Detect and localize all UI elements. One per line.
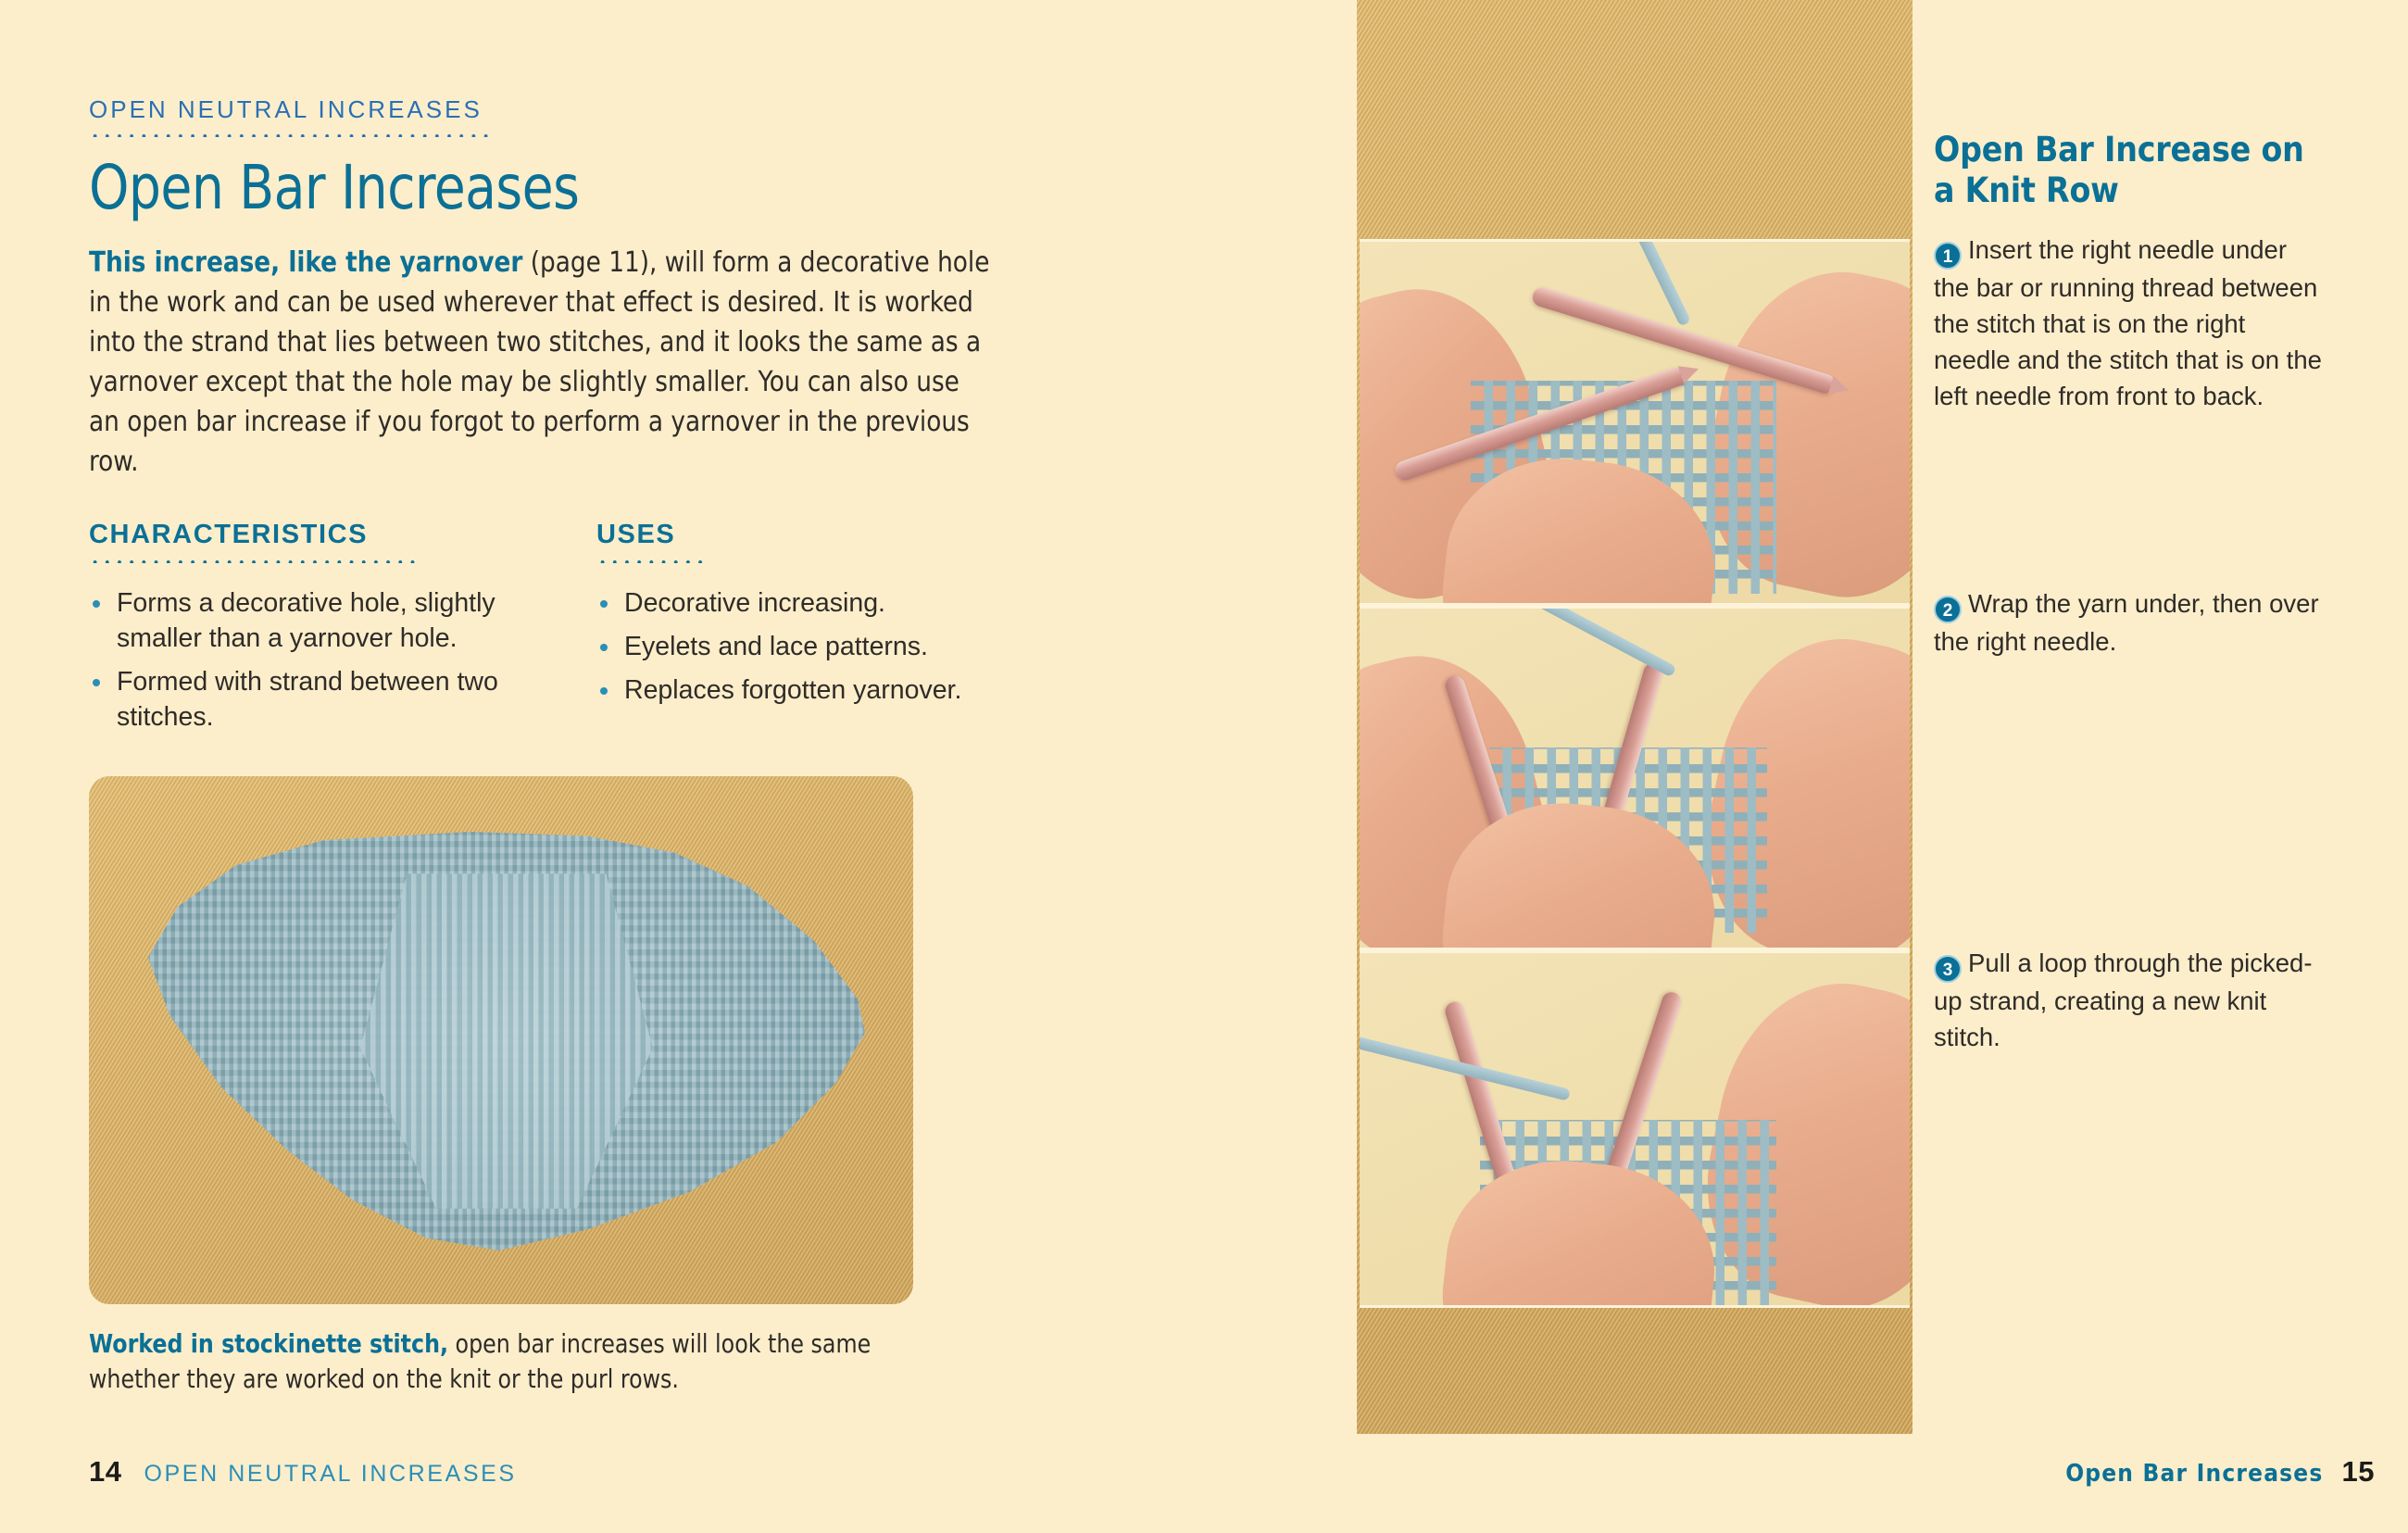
characteristics-heading: CHARACTERISTICS [89,521,596,550]
step-3: 3Pull a loop through the picked-up stran… [1934,945,2323,1055]
step-number-badge-3: 3 [1934,955,1962,983]
uses-heading: USES [596,521,1052,550]
step-1: 1Insert the right needle under the bar o… [1934,232,2323,414]
intro-lead: This increase, like the yarnover [89,246,522,279]
uses-column: USES Decorative increasing. Eyelets and … [596,521,1052,744]
section-eyebrow: OPEN NEUTRAL INCREASES [89,96,1071,123]
intro-paragraph: This increase, like the yarnover (page 1… [89,243,996,482]
step-3-text: Pull a loop through the picked-up strand… [1934,949,2313,1051]
step-1-text: Insert the right needle under the bar or… [1934,235,2322,410]
swatch-caption: Worked in stockinette stitch, open bar i… [89,1326,889,1397]
right-page-content: Open Bar Increase on a Knit Row 1Insert … [1934,130,2341,211]
feature-columns: CHARACTERISTICS Forms a decorative hole,… [89,521,1052,744]
uses-list: Decorative increasing. Eyelets and lace … [596,585,1052,708]
step-photo-2 [1360,606,1910,950]
knit-swatch-stockinette-panel [360,873,653,1209]
left-page-content: OPEN NEUTRAL INCREASES Open Bar Increase… [89,0,1071,743]
left-running-head: OPEN NEUTRAL INCREASES [144,1461,516,1488]
list-item: Forms a decorative hole, slightly smalle… [89,585,552,656]
left-page: OPEN NEUTRAL INCREASES Open Bar Increase… [0,0,1357,1533]
sidebar-title: Open Bar Increase on a Knit Row [1934,130,2323,211]
characteristics-dotted-rule [89,558,415,563]
right-page: Open Bar Increase on a Knit Row 1Insert … [1913,0,2408,1533]
step-photo-column [1357,0,1913,1434]
step-2: 2Wrap the yarn under, then over the righ… [1934,585,2323,660]
intro-rest: (page 11), will form a decorative hole i… [89,246,989,478]
list-item: Replaces forgotten yarnover. [596,672,1052,708]
yarn-strand [1524,606,1676,677]
knit-swatch-shape [133,832,865,1250]
step-number-badge-2: 2 [1934,596,1962,623]
left-page-number: 14 [89,1455,121,1489]
step-2-text: Wrap the yarn under, then over the right… [1934,589,2319,656]
step-photo-1 [1360,239,1910,606]
right-page-footer: Open Bar Increases 15 [2065,1455,2375,1489]
list-item: Decorative increasing. [596,585,1052,621]
characteristics-column: CHARACTERISTICS Forms a decorative hole,… [89,521,596,744]
book-spread: OPEN NEUTRAL INCREASES Open Bar Increase… [0,0,2408,1533]
uses-dotted-rule [596,558,706,563]
caption-lead: Worked in stockinette stitch, [89,1329,448,1359]
right-page-number: 15 [2342,1455,2375,1489]
characteristics-list: Forms a decorative hole, slightly smalle… [89,585,596,735]
step-number-badge-1: 1 [1934,242,1962,270]
swatch-photo [89,776,913,1304]
eyebrow-dotted-rule [89,132,494,137]
list-item: Eyelets and lace patterns. [596,629,1052,664]
list-item: Formed with strand between two stitches. [89,664,552,735]
right-running-head: Open Bar Increases [2065,1460,2323,1488]
step-photo-3 [1360,950,1910,1308]
left-page-footer: 14 OPEN NEUTRAL INCREASES [89,1455,517,1489]
eyebrow-block: OPEN NEUTRAL INCREASES [89,0,1071,137]
page-title: Open Bar Increases [89,157,1002,219]
